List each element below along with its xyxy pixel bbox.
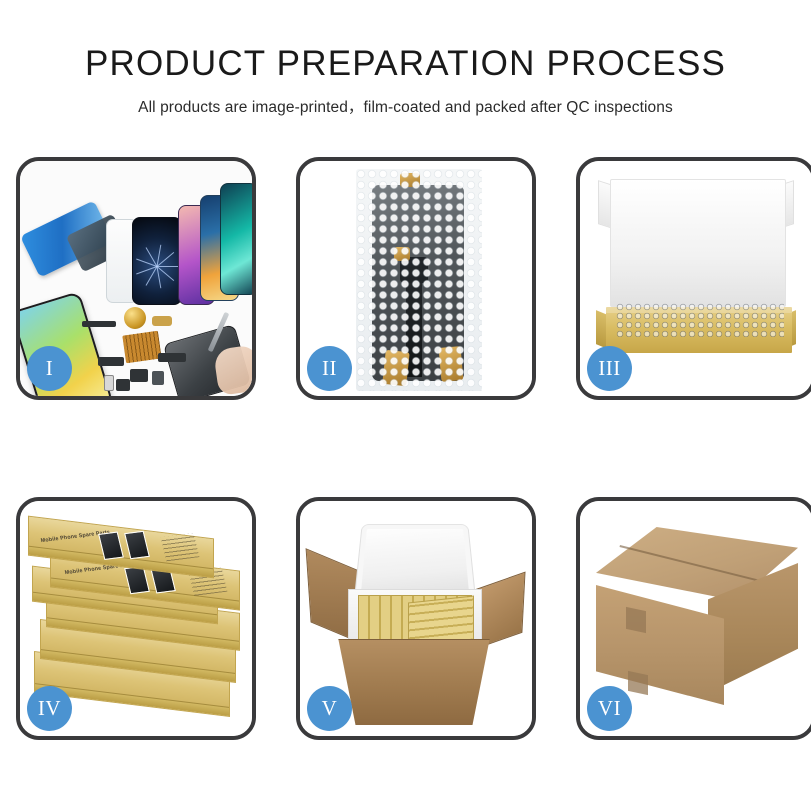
- bubble-wrap-bag-icon: [356, 169, 482, 391]
- teal-phone-icon: [220, 183, 252, 295]
- step-badge-1: I: [27, 346, 72, 391]
- spare-part-icon: [130, 369, 148, 382]
- process-step-panel-6: VI: [576, 497, 811, 740]
- spare-part-icon: [152, 371, 164, 385]
- page-title: PRODUCT PREPARATION PROCESS: [0, 44, 811, 84]
- spare-part-icon: [158, 353, 186, 362]
- process-step-panel-4: Mobile Phone Spare Parts Mobile Phone Sp…: [16, 497, 256, 740]
- bubble-wrap-liner-icon: [616, 303, 784, 337]
- process-step-panel-2: II: [296, 157, 536, 400]
- header: PRODUCT PREPARATION PROCESS All products…: [0, 0, 811, 117]
- step-badge-4: IV: [27, 686, 72, 731]
- process-step-grid: I II: [16, 157, 795, 740]
- process-step-panel-1: I: [16, 157, 256, 400]
- product-preparation-infographic: PRODUCT PREPARATION PROCESS All products…: [0, 0, 811, 811]
- cracked-dark-screen-icon: [132, 217, 182, 305]
- spare-part-icon: [116, 379, 130, 391]
- process-step-panel-3: III: [576, 157, 811, 400]
- box-window-icon: [124, 531, 150, 559]
- spare-part-icon: [98, 357, 124, 366]
- gold-coin-part-icon: [124, 307, 146, 329]
- step-badge-6: VI: [587, 686, 632, 731]
- bubble-texture-icon: [356, 169, 482, 391]
- spare-part-icon: [82, 321, 116, 327]
- white-box-lid-icon: [610, 179, 786, 307]
- step-badge-5: V: [307, 686, 352, 731]
- box-spec-lines-icon: [161, 533, 200, 561]
- gold-boxes-inside-icon: [408, 596, 474, 647]
- carton-tape-icon: [628, 671, 648, 695]
- spare-part-icon: [104, 375, 114, 391]
- carton-body-icon: [328, 639, 500, 725]
- step-badge-3: III: [587, 346, 632, 391]
- carton-tape-icon: [626, 607, 646, 633]
- process-step-panel-5: V: [296, 497, 536, 740]
- page-subtitle: All products are image-printed，film-coat…: [0, 95, 811, 117]
- spare-part-icon: [152, 316, 172, 326]
- step-badge-2: II: [307, 346, 352, 391]
- crack-lines-icon: [157, 266, 158, 267]
- gold-chip-grid-icon: [122, 331, 162, 364]
